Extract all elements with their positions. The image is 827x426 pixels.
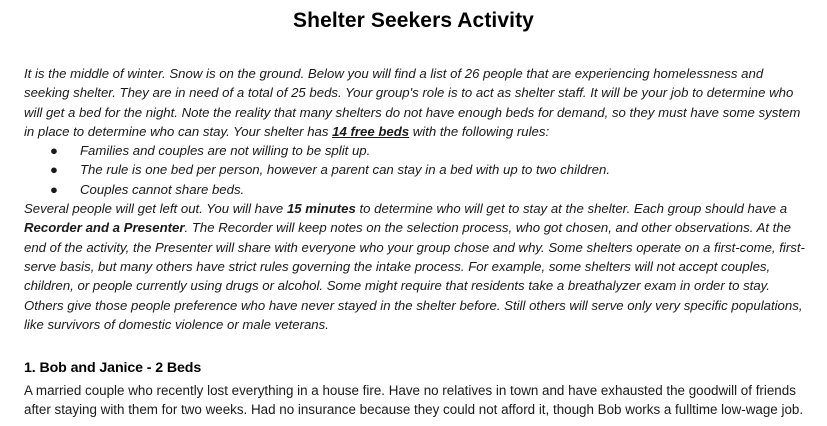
- page-title: Shelter Seekers Activity: [0, 0, 827, 34]
- entry-heading-bob-and-janice: 1. Bob and Janice - 2 Beds: [24, 334, 807, 378]
- instructions-paragraph: Several people will get left out. You wi…: [24, 199, 807, 334]
- roles-emphasis: Recorder and a Presenter: [24, 220, 185, 235]
- rule-text: Families and couples are not willing to …: [80, 143, 370, 158]
- list-item: ●Families and couples are not willing to…: [24, 141, 807, 160]
- bullet-icon: ●: [50, 180, 58, 199]
- document-page: Shelter Seekers Activity It is the middl…: [0, 0, 827, 426]
- entry-description-bob-and-janice: A married couple who recently lost every…: [24, 378, 807, 420]
- bullet-icon: ●: [50, 160, 58, 179]
- intro-text-part-2: with the following rules:: [409, 124, 549, 139]
- document-body: It is the middle of winter. Snow is on t…: [0, 64, 827, 420]
- instructions-text-part-2: to determine who will get to stay at the…: [356, 201, 787, 216]
- instructions-text-part-1: Several people will get left out. You wi…: [24, 201, 287, 216]
- list-item: ●The rule is one bed per person, however…: [24, 160, 807, 179]
- list-item: ●Couples cannot share beds.: [24, 180, 807, 199]
- intro-paragraph: It is the middle of winter. Snow is on t…: [24, 64, 807, 141]
- rule-text: Couples cannot share beds.: [80, 182, 244, 197]
- rules-list: ●Families and couples are not willing to…: [24, 141, 807, 199]
- rule-text: The rule is one bed per person, however …: [80, 162, 610, 177]
- free-beds-emphasis: 14 free beds: [332, 124, 409, 139]
- time-limit-emphasis: 15 minutes: [287, 201, 356, 216]
- instructions-text-part-3: . The Recorder will keep notes on the se…: [24, 220, 805, 331]
- bullet-icon: ●: [50, 141, 58, 160]
